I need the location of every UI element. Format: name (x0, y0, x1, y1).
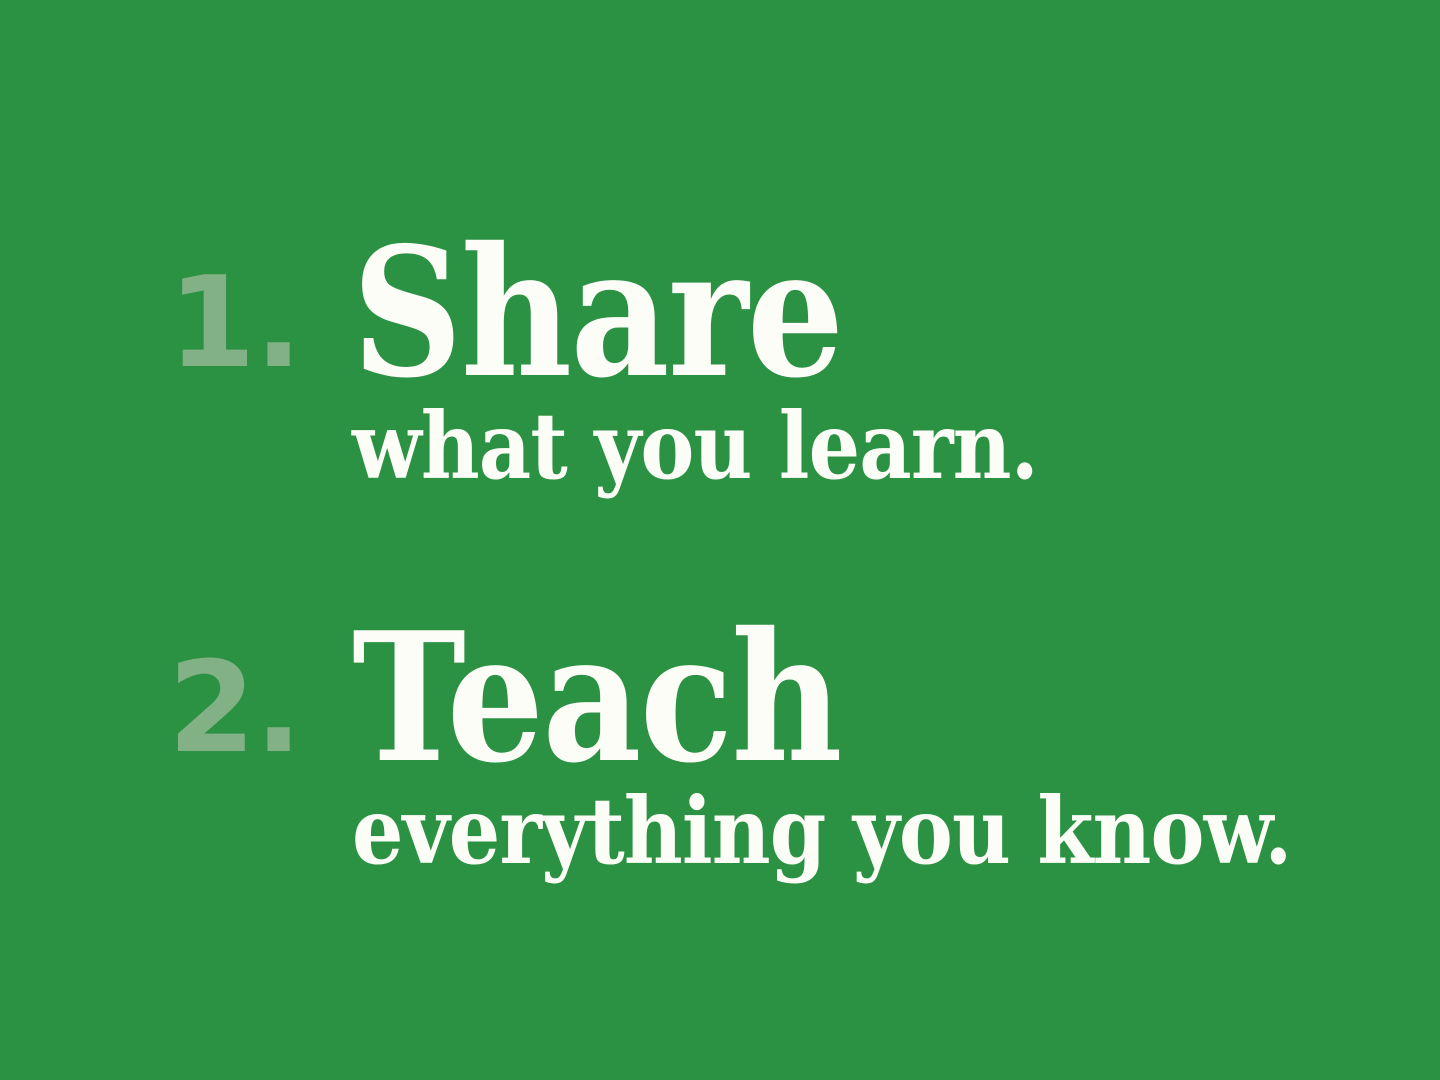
subtitle-row: what you learn. (0, 400, 1440, 510)
headline-row: 1. Share (0, 186, 1440, 386)
item-title-teach: Teach (352, 609, 841, 787)
headline-row: 2. Teach (0, 571, 1440, 771)
list-item: 2. Teach everything you know. (0, 571, 1440, 895)
item-number-1: 1. (168, 260, 318, 386)
subtitle-row: everything you know. (0, 785, 1440, 895)
item-number-2: 2. (168, 645, 318, 771)
slide-canvas: 1. Share what you learn. 2. Teach everyt… (0, 0, 1440, 1080)
list-item: 1. Share what you learn. (0, 186, 1440, 510)
item-title-share: Share (352, 224, 842, 402)
item-subtitle-teach: everything you know. (352, 785, 1292, 877)
item-subtitle-share: what you learn. (352, 400, 1038, 492)
